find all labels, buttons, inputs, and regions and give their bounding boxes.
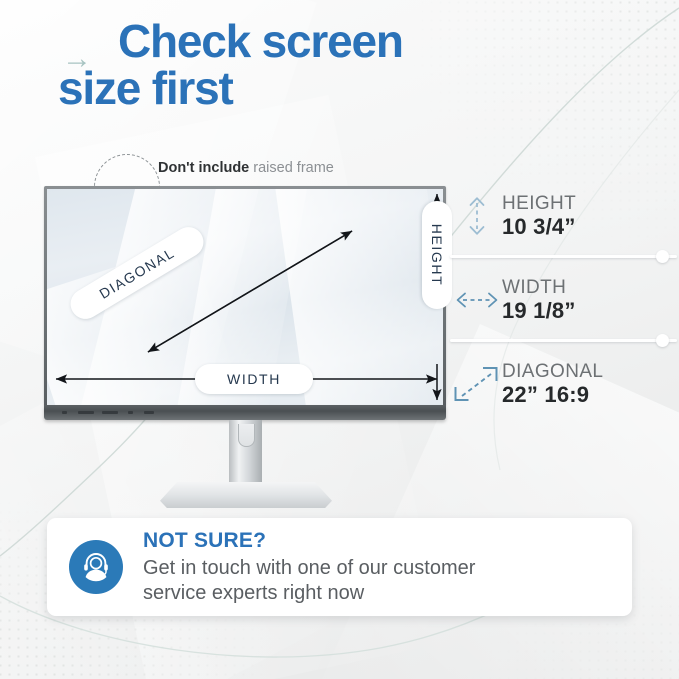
measurement-row-height: HEIGHT 10 3/4” <box>452 174 679 258</box>
monitor-control-mark <box>128 411 133 414</box>
screen-label-height: HEIGHT <box>422 201 452 309</box>
measurement-text: HEIGHT 10 3/4” <box>502 193 679 239</box>
measurement-row-diagonal: DIAGONAL 22” 16:9 <box>452 342 679 426</box>
support-cta-body: NOT SURE? Get in touch with one of our c… <box>143 529 610 605</box>
measurement-value: 22” 16:9 <box>502 382 679 407</box>
support-cta-line-1: Get in touch with one of our customer <box>143 556 610 580</box>
screen-label-width: WIDTH <box>195 364 313 394</box>
page-title: Check screen size first <box>58 18 658 112</box>
page-title-line-2: size first <box>58 65 658 112</box>
arrow-right-icon: → <box>62 44 90 74</box>
measurement-row-width: WIDTH 19 1/8” <box>452 258 679 342</box>
monitor-control-mark <box>62 411 67 414</box>
arrow-horizontal-dashed-icon <box>452 287 502 313</box>
monitor-bottom-bezel <box>44 405 446 420</box>
infographic-canvas: → Check screen size first Don't include … <box>0 0 679 679</box>
support-cta-card[interactable]: NOT SURE? Get in touch with one of our c… <box>47 518 632 616</box>
arrow-diagonal-dashed-icon <box>452 364 502 404</box>
measurement-list: HEIGHT 10 3/4” WIDTH 19 1/8” <box>452 174 679 426</box>
headset-support-agent-icon <box>69 540 123 594</box>
support-cta-title: NOT SURE? <box>143 529 610 553</box>
measurement-value: 10 3/4” <box>502 214 679 239</box>
support-cta-text: Get in touch with one of our customer se… <box>143 556 610 605</box>
stand-cable-slot <box>238 424 255 447</box>
measurement-label: HEIGHT <box>502 193 679 214</box>
monitor-control-mark <box>102 411 118 414</box>
monitor-stand-base <box>160 482 332 508</box>
monitor-control-mark <box>78 411 94 414</box>
page-title-line-1: Check screen <box>118 15 403 67</box>
support-cta-line-2: service experts right now <box>143 581 610 605</box>
raised-frame-note: Don't include raised frame <box>158 160 334 176</box>
page-header: → Check screen size first <box>58 18 658 112</box>
monitor-stand-neck <box>229 420 262 486</box>
arrow-vertical-dashed-icon <box>452 195 502 237</box>
measurement-label: WIDTH <box>502 277 679 298</box>
measurement-label: DIAGONAL <box>502 361 679 382</box>
raised-frame-note-rest: raised frame <box>249 160 334 176</box>
measurement-text: WIDTH 19 1/8” <box>502 277 679 323</box>
measurement-text: DIAGONAL 22” 16:9 <box>502 361 679 407</box>
measurement-value: 19 1/8” <box>502 298 679 323</box>
monitor-control-mark <box>144 411 154 414</box>
raised-frame-note-bold: Don't include <box>158 160 249 176</box>
